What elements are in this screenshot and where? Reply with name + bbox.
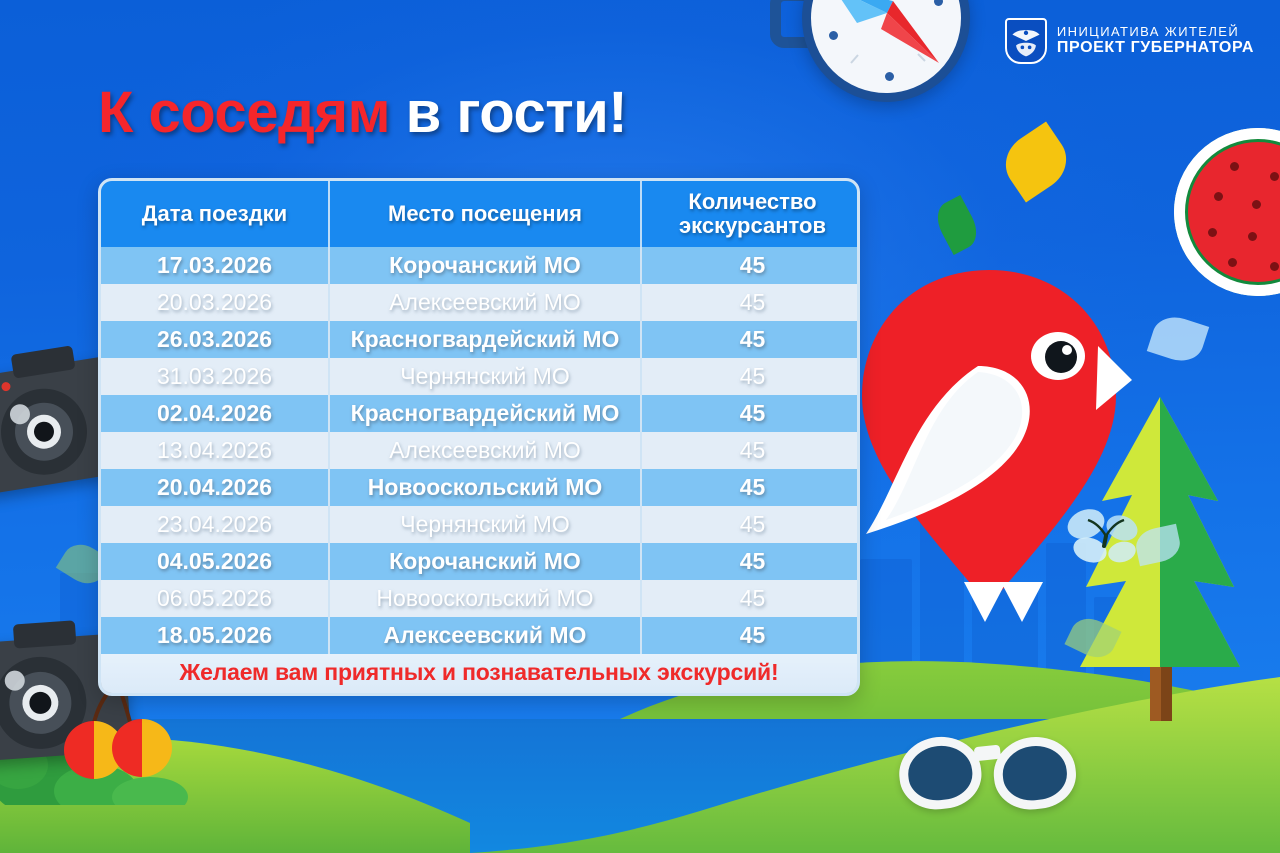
table-header: Дата поездки Место посещения Количество … (101, 181, 860, 247)
title-part-red: К соседям (98, 80, 390, 145)
cell-place: Корочанский МО (329, 543, 641, 580)
watermelon-slice-icon (1174, 128, 1280, 296)
logo-line-2: ПРОЕКТ ГУБЕРНАТОРА (1057, 39, 1254, 57)
table-row: 20.03.2026Алексеевский МО45 (101, 284, 860, 321)
cell-count: 45 (641, 358, 860, 395)
table-row: 31.03.2026Чернянский МО45 (101, 358, 860, 395)
cell-place: Новооскольский МО (329, 469, 641, 506)
table-row: 06.05.2026Новооскольский МО45 (101, 580, 860, 617)
cell-place: Алексеевский МО (329, 617, 641, 654)
cell-date: 26.03.2026 (101, 321, 329, 358)
table-row: 20.04.2026Новооскольский МО45 (101, 469, 860, 506)
cell-count: 45 (641, 469, 860, 506)
table-row: 02.04.2026Красногвардейский МО45 (101, 395, 860, 432)
title-part-white: в гости! (406, 80, 627, 145)
cell-date: 23.04.2026 (101, 506, 329, 543)
cell-count: 45 (641, 617, 860, 654)
cell-place: Корочанский МО (329, 247, 641, 284)
table-row: 26.03.2026Красногвардейский МО45 (101, 321, 860, 358)
cell-place: Чернянский МО (329, 358, 641, 395)
cell-place: Красногвардейский МО (329, 321, 641, 358)
table-row: 17.03.2026Корочанский МО45 (101, 247, 860, 284)
cell-count: 45 (641, 395, 860, 432)
butterfly-illustration (1066, 502, 1142, 572)
cell-place: Красногвардейский МО (329, 395, 641, 432)
governor-project-logo: ИНИЦИАТИВА ЖИТЕЛЕЙ ПРОЕКТ ГУБЕРНАТОРА (1005, 18, 1254, 64)
logo-line-1: ИНИЦИАТИВА ЖИТЕЛЕЙ (1057, 25, 1254, 40)
page-title: К соседям в гости! (98, 84, 627, 142)
table-footer-message: Желаем вам приятных и познавательных экс… (101, 654, 857, 693)
table-row: 04.05.2026Корочанский МО45 (101, 543, 860, 580)
cell-date: 20.04.2026 (101, 469, 329, 506)
cherry-right (112, 719, 172, 777)
cell-place: Алексеевский МО (329, 432, 641, 469)
table-body: 17.03.2026Корочанский МО4520.03.2026Алек… (101, 247, 860, 654)
cell-date: 13.04.2026 (101, 432, 329, 469)
compass-icon (802, 0, 970, 102)
cell-count: 45 (641, 321, 860, 358)
cell-date: 02.04.2026 (101, 395, 329, 432)
cell-date: 20.03.2026 (101, 284, 329, 321)
table-header-row: Дата поездки Место посещения Количество … (101, 181, 860, 247)
cell-date: 06.05.2026 (101, 580, 329, 617)
sunglasses-illustration (895, 721, 1080, 835)
column-header-count-line2: экскурсантов (679, 213, 826, 238)
leaf-pale-icon (1147, 311, 1209, 367)
cell-count: 45 (641, 432, 860, 469)
cell-place: Чернянский МО (329, 506, 641, 543)
cell-place: Алексеевский МО (329, 284, 641, 321)
schedule-table: Дата поездки Место посещения Количество … (101, 181, 860, 654)
leaf-green-icon (930, 195, 983, 255)
column-header-date: Дата поездки (101, 181, 329, 247)
cell-date: 04.05.2026 (101, 543, 329, 580)
coat-of-arms-icon (1005, 18, 1047, 64)
cell-date: 17.03.2026 (101, 247, 329, 284)
cell-count: 45 (641, 506, 860, 543)
cell-date: 18.05.2026 (101, 617, 329, 654)
table-row: 13.04.2026Алексеевский МО45 (101, 432, 860, 469)
poster-canvas: ИНИЦИАТИВА ЖИТЕЛЕЙ ПРОЕКТ ГУБЕРНАТОРА К … (0, 0, 1280, 853)
schedule-table-card: Дата поездки Место посещения Количество … (98, 178, 860, 696)
cell-date: 31.03.2026 (101, 358, 329, 395)
logo-text-block: ИНИЦИАТИВА ЖИТЕЛЕЙ ПРОЕКТ ГУБЕРНАТОРА (1057, 25, 1254, 57)
red-bird-map-pin-illustration (846, 268, 1132, 632)
table-row: 23.04.2026Чернянский МО45 (101, 506, 860, 543)
column-header-count-line1: Количество (688, 189, 816, 214)
cell-place: Новооскольский МО (329, 580, 641, 617)
cell-count: 45 (641, 247, 860, 284)
column-header-place: Место посещения (329, 181, 641, 247)
cell-count: 45 (641, 580, 860, 617)
cell-count: 45 (641, 284, 860, 321)
leaf-yellow-icon (995, 121, 1078, 202)
cell-count: 45 (641, 543, 860, 580)
column-header-count: Количество экскурсантов (641, 181, 860, 247)
table-row: 18.05.2026Алексеевский МО45 (101, 617, 860, 654)
